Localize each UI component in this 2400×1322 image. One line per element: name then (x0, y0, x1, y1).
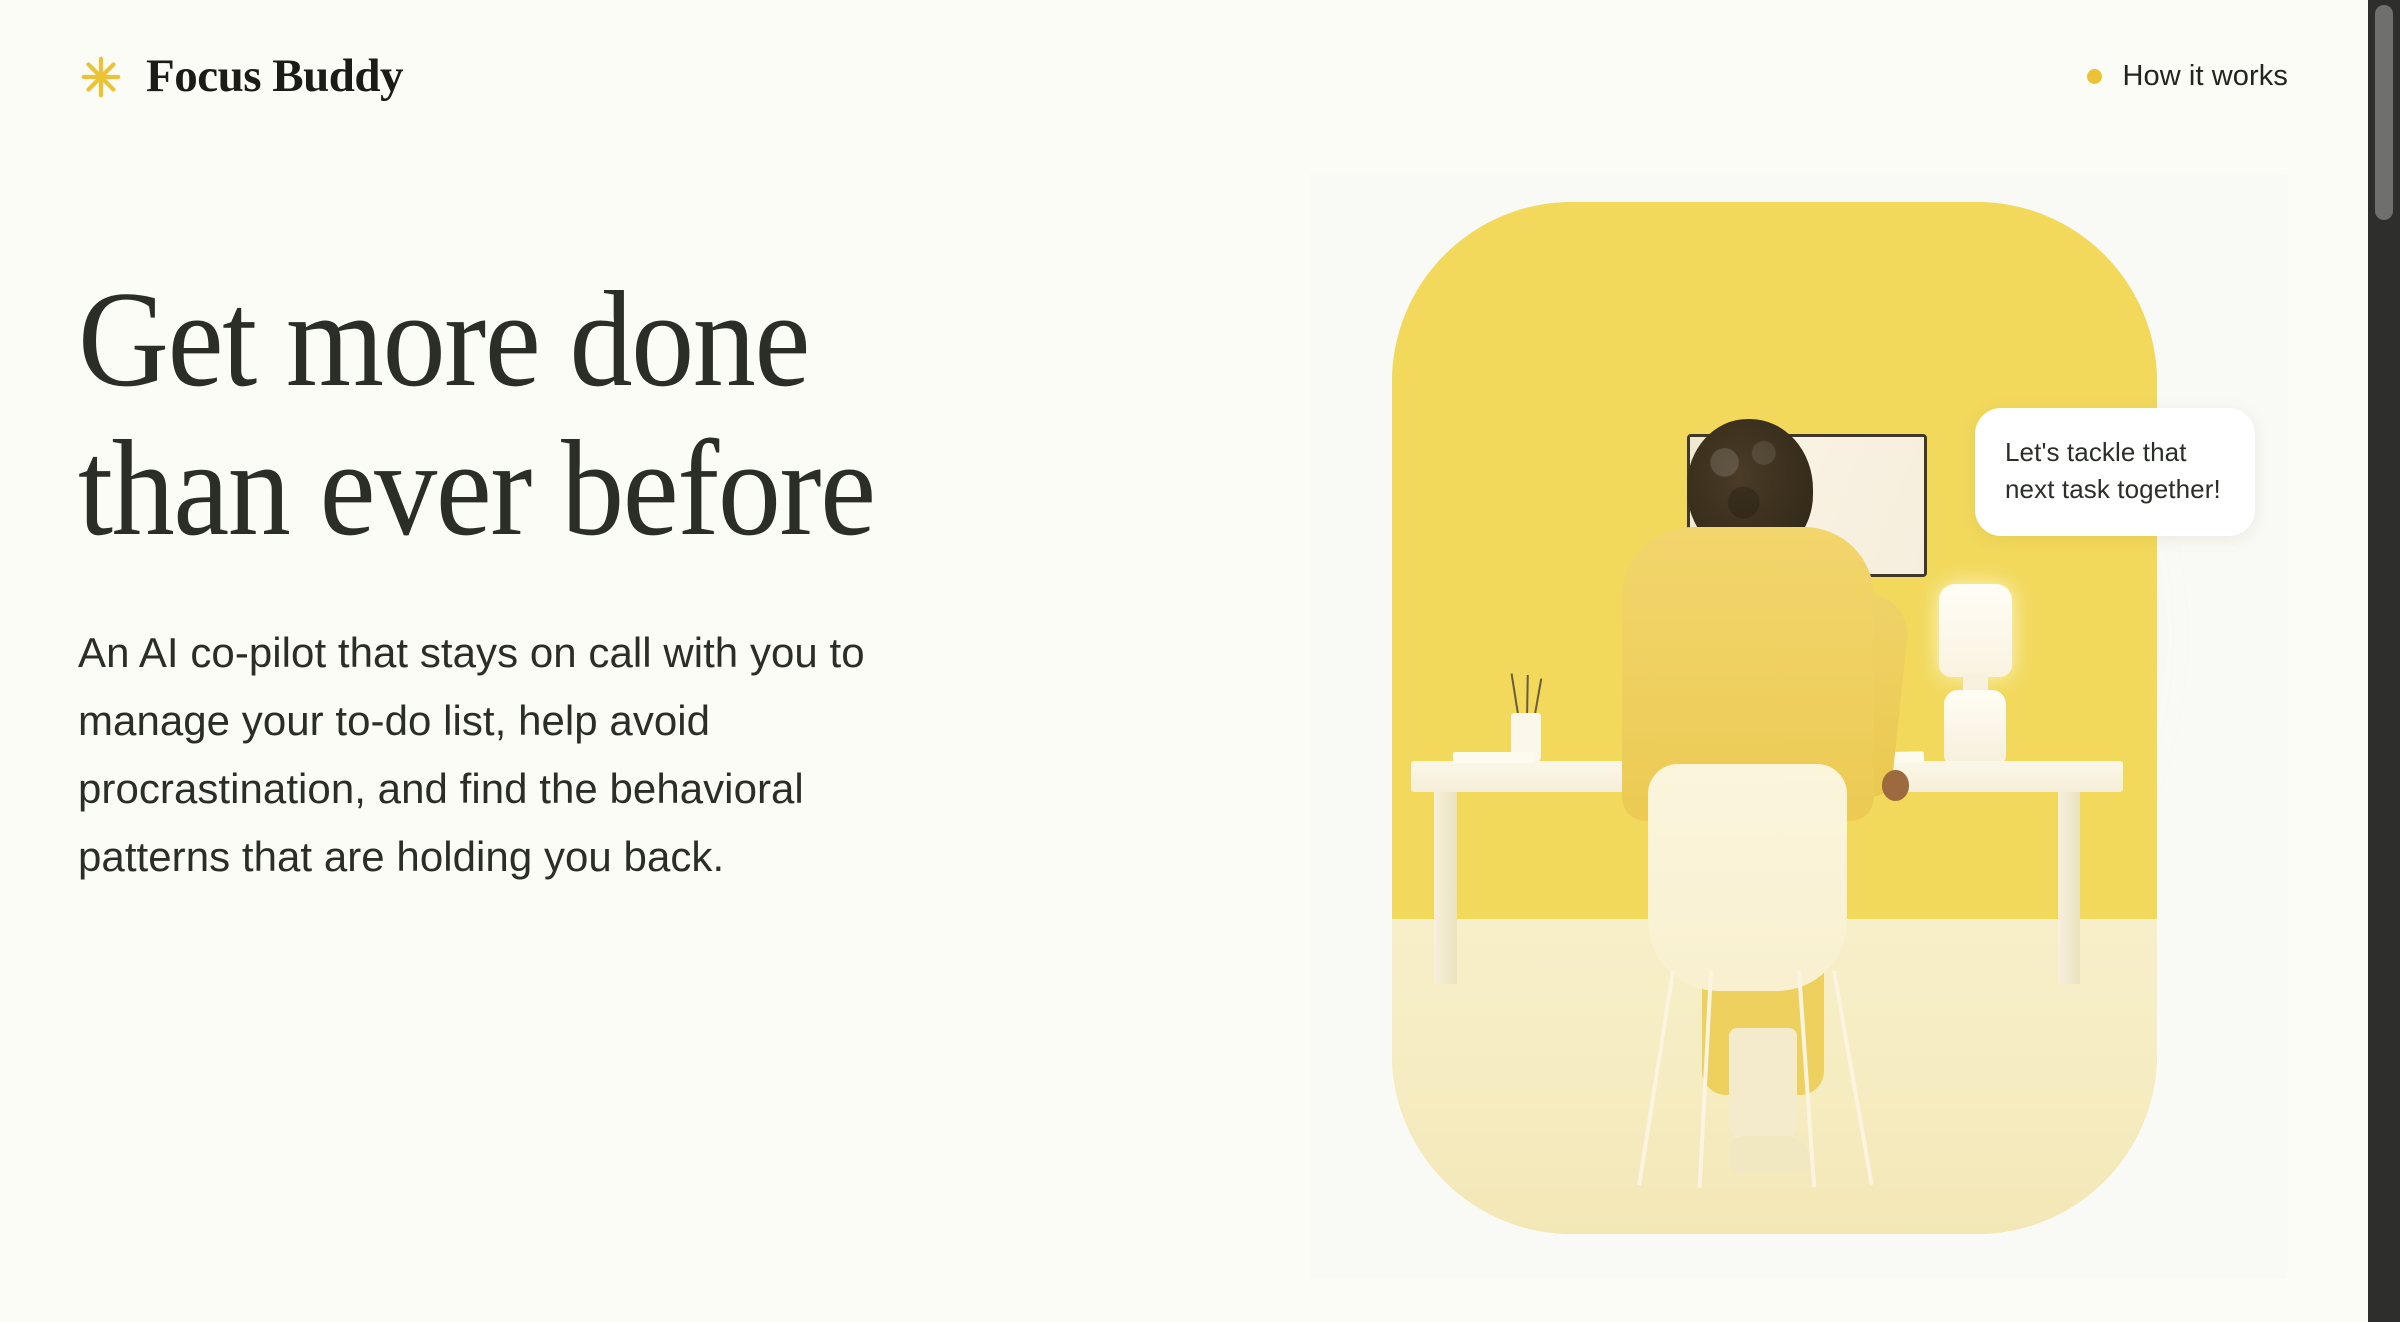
vertical-scrollbar-thumb[interactable] (2375, 5, 2393, 220)
hero-subcopy: An AI co-pilot that stays on call with y… (78, 619, 1008, 891)
speech-bubble-line-1: Let's tackle that (2005, 434, 2225, 471)
headline-line-2: than ever before (78, 414, 1108, 563)
subcopy-line-3: procrastination, and find the behavioral (78, 755, 1008, 823)
hero-section: Get more done than ever before An AI co-… (0, 152, 2368, 1322)
vertical-scrollbar-track[interactable] (2368, 0, 2400, 1322)
speech-bubble-line-2: next task together! (2005, 471, 2225, 508)
person-hand (1882, 770, 1910, 801)
nav-item-label: How it works (2122, 60, 2288, 93)
person-foot (1729, 1136, 1809, 1173)
hero-visual-card: Let's tackle that next task together! (1310, 174, 2287, 1278)
page-viewport: Focus Buddy How it works Get more done t… (0, 0, 2368, 1322)
desk-lamp-icon (1939, 584, 2012, 677)
bullet-dot-icon (2087, 69, 2102, 84)
page-title: Get more done than ever before (78, 265, 1108, 564)
starburst-icon (78, 54, 124, 100)
lamp-base (1944, 690, 2006, 764)
nav-item-how-it-works[interactable]: How it works (2087, 60, 2288, 93)
desk-leg-right (2058, 792, 2081, 984)
page-root: Focus Buddy How it works Get more done t… (0, 0, 2400, 1322)
person-legs (1729, 1028, 1798, 1152)
chair-backrest (1648, 764, 1847, 991)
hero-copy: Get more done than ever before An AI co-… (78, 265, 1198, 891)
desk-paper-left (1453, 752, 1533, 763)
speech-bubble: Let's tackle that next task together! (1975, 408, 2255, 536)
brand-logo[interactable]: Focus Buddy (78, 52, 403, 100)
subcopy-line-4: patterns that are holding you back. (78, 823, 1008, 891)
site-header: Focus Buddy How it works (0, 0, 2368, 152)
headline-line-1: Get more done (78, 265, 1108, 414)
subcopy-line-1: An AI co-pilot that stays on call with y… (78, 619, 1008, 687)
subcopy-line-2: manage your to-do list, help avoid (78, 687, 1008, 755)
primary-nav: How it works (2087, 60, 2288, 93)
brand-name: Focus Buddy (146, 53, 403, 100)
person-at-desk-illustration (1392, 202, 2157, 1234)
desk-leg-left (1434, 792, 1457, 984)
